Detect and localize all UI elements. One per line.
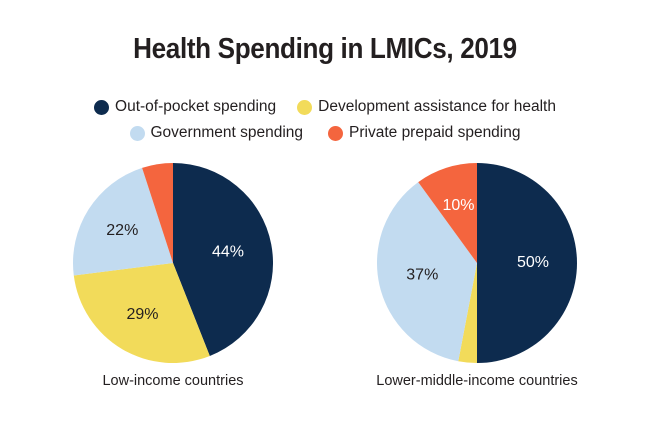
pie-slice-label-out-of-pocket-spending: 44% xyxy=(212,244,244,261)
pie-slice-label-private-prepaid-spending: 10% xyxy=(442,197,474,214)
pie-caption-low-income-countries: Low-income countries xyxy=(43,373,303,389)
pie-lower-middle-income-countries: 50%37%10% xyxy=(377,163,577,363)
pie-low-income-countries: 44%29%22% xyxy=(73,163,273,363)
pie-caption-lower-middle-income-countries: Lower-middle-income countries xyxy=(347,373,607,389)
pie-slice-label-government-spending: 37% xyxy=(406,266,438,283)
pie-slice-label-development-assistance-for-health: 29% xyxy=(126,306,158,323)
chart-figure: Health Spending in LMICs, 2019 Out-of-po… xyxy=(0,0,650,433)
pie-slice-label-government-spending: 22% xyxy=(106,222,138,239)
pie-chart-area: 44%29%22% 50%37%10% xyxy=(0,0,650,433)
pie-slice-label-out-of-pocket-spending: 50% xyxy=(517,254,549,271)
